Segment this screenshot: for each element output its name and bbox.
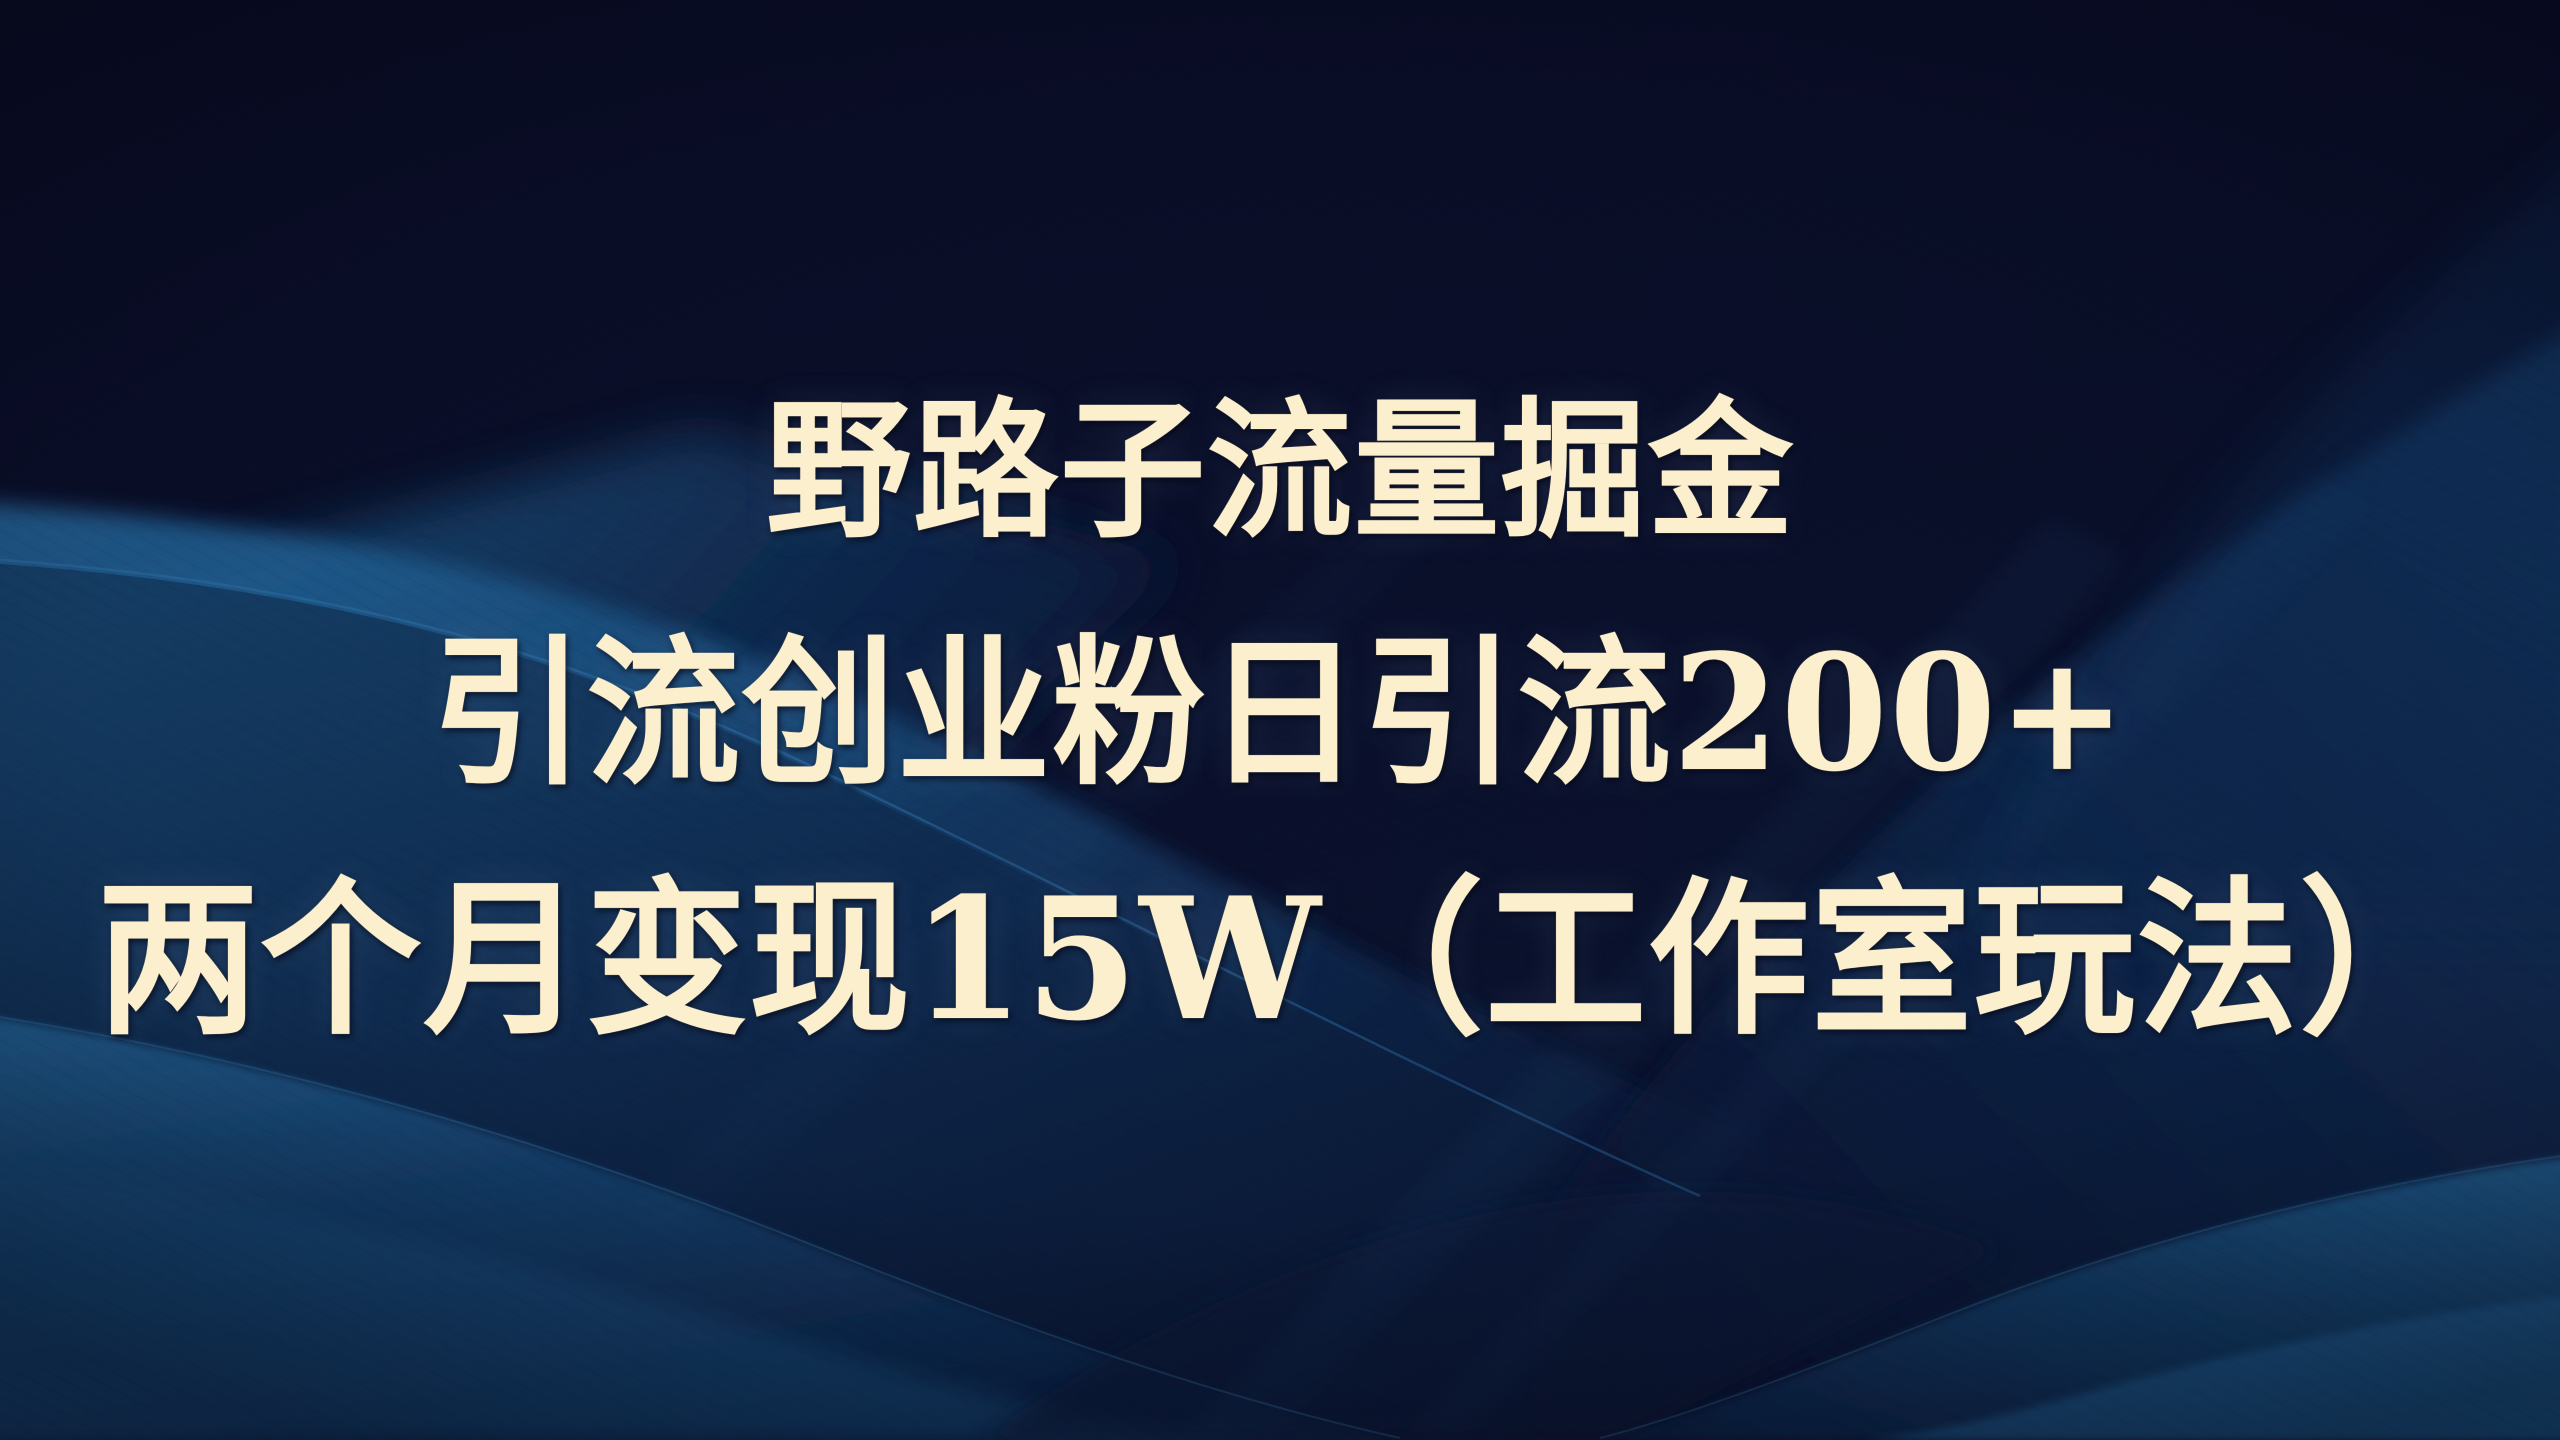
headline-block: 野路子流量掘金 引流创业粉日引流200+ 两个月变现15W（工作室玩法）	[0, 0, 2560, 1440]
headline-line-2: 引流创业粉日引流200+	[432, 629, 2129, 799]
promo-poster: 野路子流量掘金 引流创业粉日引流200+ 两个月变现15W（工作室玩法）	[0, 0, 2560, 1440]
headline-line-3: 两个月变现15W（工作室玩法）	[97, 870, 2462, 1048]
headline-line-1: 野路子流量掘金	[766, 392, 1795, 551]
